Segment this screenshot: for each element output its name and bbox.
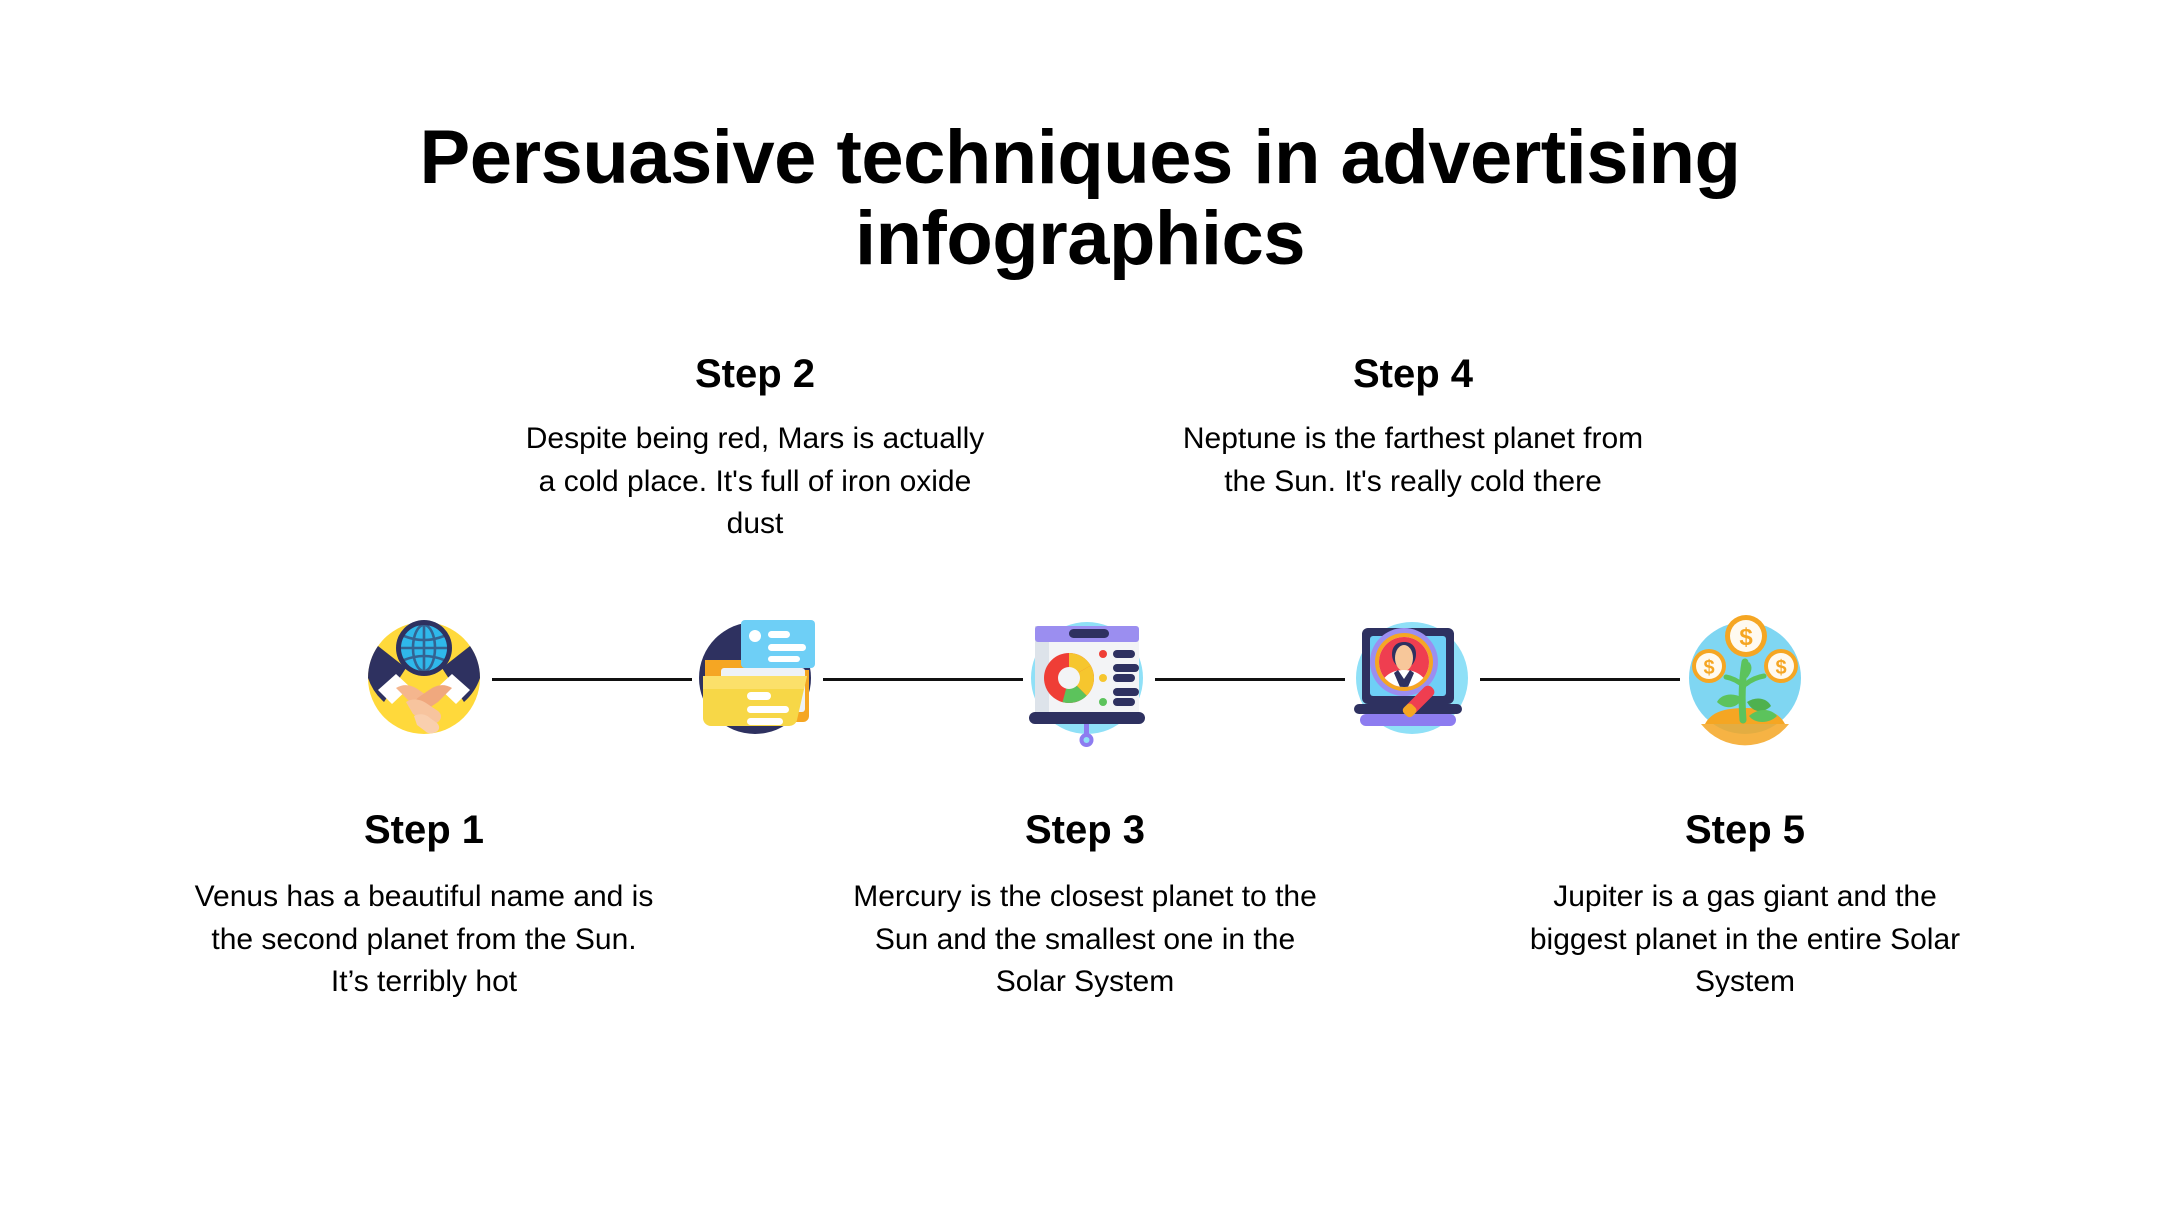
folder-document-icon	[675, 598, 835, 758]
step-1-heading: Step 1	[189, 808, 659, 852]
step-1-column: Step 1 Venus has a beautiful name and is…	[189, 808, 659, 1004]
svg-text:$: $	[1739, 624, 1753, 651]
step-5-column: Step 5 Jupiter is a gas giant and the bi…	[1510, 808, 1980, 1004]
step-3-body: Mercury is the closest planet to the Sun…	[850, 876, 1320, 1004]
step-4-heading: Step 4	[1178, 352, 1648, 396]
connector-line-2-3	[823, 678, 1023, 681]
step-2-icon	[675, 598, 835, 758]
step-2-body: Despite being red, Mars is actually a co…	[520, 418, 990, 546]
infographic-slide: Persuasive techniques in advertising inf…	[0, 0, 2160, 1215]
step-5-heading: Step 5	[1510, 808, 1980, 852]
connector-line-4-5	[1480, 678, 1680, 681]
page-title: Persuasive techniques in advertising inf…	[280, 118, 1880, 279]
step-5-body: Jupiter is a gas giant and the biggest p…	[1510, 876, 1980, 1004]
step-3-icon	[1007, 598, 1167, 758]
step-3-heading: Step 3	[850, 808, 1320, 852]
handshake-globe-icon	[344, 598, 504, 758]
presentation-chart-icon	[1007, 598, 1167, 758]
step-2-column: Step 2 Despite being red, Mars is actual…	[520, 352, 990, 546]
step-3-column: Step 3 Mercury is the closest planet to …	[850, 808, 1320, 1004]
step-5-icon: $ $ $	[1665, 598, 1825, 758]
step-1-icon	[344, 598, 504, 758]
step-4-body: Neptune is the farthest planet from the …	[1178, 418, 1648, 503]
svg-text:$: $	[1775, 657, 1786, 679]
step-4-icon	[1332, 598, 1492, 758]
user-search-laptop-icon	[1332, 598, 1492, 758]
step-4-column: Step 4 Neptune is the farthest planet fr…	[1178, 352, 1648, 503]
money-plant-icon: $ $ $	[1665, 598, 1825, 758]
connector-line-3-4	[1155, 678, 1345, 681]
svg-text:$: $	[1703, 657, 1714, 679]
connector-line-1-2	[492, 678, 692, 681]
step-2-heading: Step 2	[520, 352, 990, 396]
step-1-body: Venus has a beautiful name and is the se…	[189, 876, 659, 1004]
